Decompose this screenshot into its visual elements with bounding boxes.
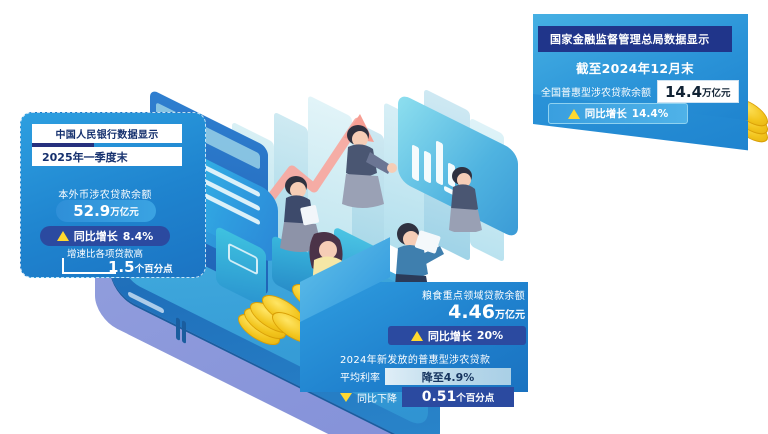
pboc-metric-value-pill: 52.9万亿元 [56,200,156,222]
pboc-change-text: 同比增长 [74,228,118,244]
pboc-note-value-group: 1.5个百分点 [108,258,173,276]
pboc-metric-unit: 万亿元 [110,204,139,218]
pboc-change-pill: 同比增长8.4% [40,226,170,246]
triangle-down-icon [340,393,352,402]
pboc-source-title: 中国人民银行数据显示 [32,124,182,143]
person-figure [336,124,398,212]
rate-decline-row: 同比下降 0.51个百分点 [340,387,514,407]
average-rate-row: 平均利率 降至4.9% [340,368,511,385]
nfra-metric-value-box: 14.4万亿元 [657,80,739,103]
rate-decline-value-box: 0.51个百分点 [402,387,514,407]
grain-metric-value-group: 4.46万亿元 [405,301,525,323]
grain-change-value: 20% [477,329,503,342]
nfra-change-pill: 同比增长14.4% [548,103,688,124]
triangle-up-icon [411,331,423,341]
grain-change-text: 同比增长 [428,328,472,344]
nfra-metric-value: 14.4 [665,83,702,101]
chart-bar [412,144,419,181]
nfra-change-value: 14.4% [632,108,668,120]
phone-button [176,317,180,341]
pboc-note-unit: 个百分点 [135,264,173,275]
nfra-metric-row: 全国普惠型涉农贷款余额 14.4万亿元 [541,80,739,103]
grain-change-pill: 同比增长20% [388,326,526,345]
triangle-up-icon [57,231,69,241]
rate-decline-label: 同比下降 [357,390,397,405]
grain-metric-unit: 万亿元 [495,310,525,321]
pboc-period: 2025年一季度末 [32,147,182,166]
rate-decline-value: 0.51 [422,389,457,405]
inclusive-loans-sub-label: 2024年新发放的普惠型涉农贷款 [340,351,525,366]
grain-metric-label: 粮食重点领域贷款余额 [415,287,525,302]
nfra-source-title: 国家金融监督管理总局数据显示 [538,26,732,52]
chart-bar [436,140,443,185]
person-figure [444,166,492,236]
pboc-change-value: 8.4% [123,230,154,243]
average-rate-label: 平均利率 [340,369,380,384]
phone-button [182,320,186,344]
pboc-metric-label: 本外币涉农贷款余额 [30,186,180,201]
nfra-metric-unit: 万亿元 [702,85,731,99]
pboc-note-value: 1.5 [108,258,135,276]
rate-decline-unit: 个百分点 [456,390,494,404]
infographic-canvas: 中国人民银行数据显示 2025年一季度末 本外币涉农贷款余额 52.9万亿元 同… [0,0,768,434]
pboc-metric-value: 52.9 [73,202,110,220]
average-rate-value: 降至4.9% [385,368,511,385]
chart-bar [424,150,431,183]
nfra-period: 截至2024年12月末 [538,58,732,77]
triangle-up-icon [568,109,580,119]
nfra-change-text: 同比增长 [585,106,627,121]
grain-metric-value: 4.46 [448,301,495,323]
nfra-metric-label: 全国普惠型涉农贷款余额 [541,84,651,99]
